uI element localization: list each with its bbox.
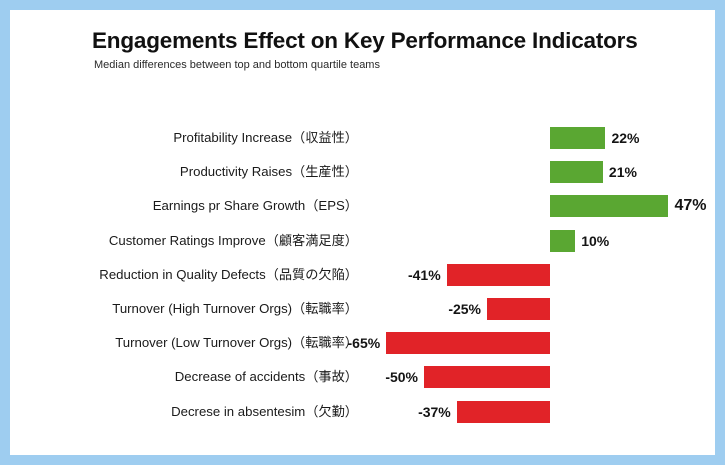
bar-row: Earnings pr Share Growth（EPS）47% (10, 191, 715, 221)
bar-value-label: 47% (674, 191, 706, 221)
bar-value-label: -37% (381, 397, 451, 427)
bar-row: Decrese in absentesim（欠勤）-37% (10, 397, 715, 427)
bar-category-label: Decrese in absentesim（欠勤） (10, 397, 358, 427)
bar-category-label: Turnover (Low Turnover Orgs)（転職率） (10, 328, 358, 358)
bar-negative[interactable] (424, 366, 550, 388)
bar-positive[interactable] (550, 127, 605, 149)
bar-value-label: 10% (581, 226, 609, 256)
bar-positive[interactable] (550, 195, 668, 217)
bar-category-label: Customer Ratings Improve（顧客満足度） (10, 226, 358, 256)
bar-value-label: 22% (611, 123, 639, 153)
bar-negative[interactable] (447, 264, 550, 286)
bar-row: Decrease of accidents（事故）-50% (10, 362, 715, 392)
bar-value-label: -41% (371, 260, 441, 290)
chart-canvas: Engagements Effect on Key Performance In… (10, 10, 715, 455)
bar-category-label: Turnover (High Turnover Orgs)（転職率） (10, 294, 358, 324)
bar-row: Turnover (Low Turnover Orgs)（転職率）-65% (10, 328, 715, 358)
bar-positive[interactable] (550, 230, 575, 252)
bar-value-label: -50% (348, 362, 418, 392)
bar-value-label: -65% (310, 328, 380, 358)
bar-category-label: Productivity Raises（生産性） (10, 157, 358, 187)
bar-row: Productivity Raises（生産性）21% (10, 157, 715, 187)
bar-negative[interactable] (386, 332, 550, 354)
bar-row: Reduction in Quality Defects（品質の欠陥）-41% (10, 260, 715, 290)
bar-row: Customer Ratings Improve（顧客満足度）10% (10, 226, 715, 256)
bar-category-label: Reduction in Quality Defects（品質の欠陥） (10, 260, 358, 290)
bar-row: Turnover (High Turnover Orgs)（転職率）-25% (10, 294, 715, 324)
bar-category-label: Earnings pr Share Growth（EPS） (10, 191, 358, 221)
bar-category-label: Decrease of accidents（事故） (10, 362, 358, 392)
bar-row: Profitability Increase（収益性）22% (10, 123, 715, 153)
bar-value-label: -25% (411, 294, 481, 324)
bar-positive[interactable] (550, 161, 603, 183)
bar-category-label: Profitability Increase（収益性） (10, 123, 358, 153)
bar-negative[interactable] (487, 298, 550, 320)
chart-frame: Engagements Effect on Key Performance In… (0, 0, 725, 465)
bar-chart-plot-area: Profitability Increase（収益性）22%Productivi… (10, 10, 715, 455)
bar-value-label: 21% (609, 157, 637, 187)
bar-negative[interactable] (457, 401, 550, 423)
